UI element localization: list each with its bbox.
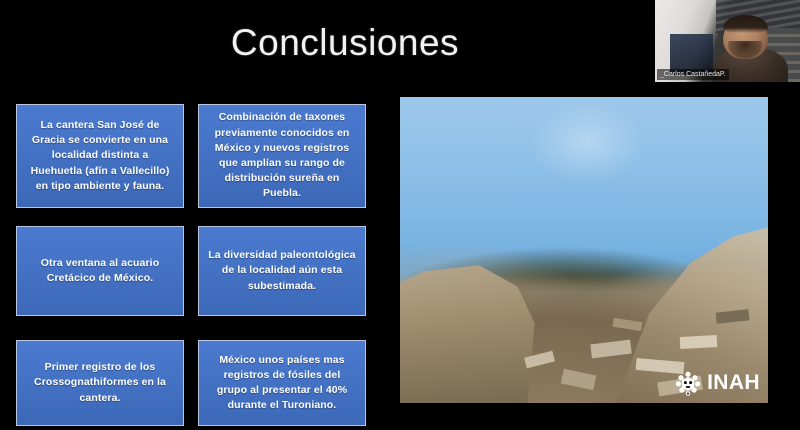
conclusion-box-primer-registro[interactable]: Primer registro de los Crossognathiforme… (16, 340, 184, 426)
conclusion-box-combinacion-taxones[interactable]: Combinación de taxones previamente conoc… (198, 104, 366, 208)
conclusion-box-text: Combinación de taxones previamente conoc… (207, 110, 357, 201)
quarry-photo: INAH (400, 97, 768, 403)
presentation-slide: Conclusiones La cantera San José de Grac… (0, 0, 800, 430)
conclusion-box-text: México unos países mas registros de fósi… (207, 353, 357, 414)
conclusion-box-text: La diversidad paleontológica de la local… (207, 248, 357, 294)
conclusion-box-mexico-paises[interactable]: México unos países mas registros de fósi… (198, 340, 366, 426)
conclusion-box-diversidad-paleontologica[interactable]: La diversidad paleontológica de la local… (198, 226, 366, 316)
webcam-tile[interactable]: _Carlos CastañedaP. (655, 0, 800, 82)
conclusion-box-text: Primer registro de los Crossognathiforme… (25, 360, 175, 406)
rock-block (679, 335, 716, 349)
conclusion-box-otra-ventana[interactable]: Otra ventana al acuario Cretácico de Méx… (16, 226, 184, 316)
participant-name-label: _Carlos CastañedaP. (657, 69, 729, 80)
slide-title: Conclusiones (0, 22, 690, 64)
conclusion-box-cantera-san-jose[interactable]: La cantera San José de Gracia se convier… (16, 104, 184, 208)
conclusion-box-text: La cantera San José de Gracia se convier… (25, 118, 175, 194)
conclusion-box-text: Otra ventana al acuario Cretácico de Méx… (25, 256, 175, 286)
